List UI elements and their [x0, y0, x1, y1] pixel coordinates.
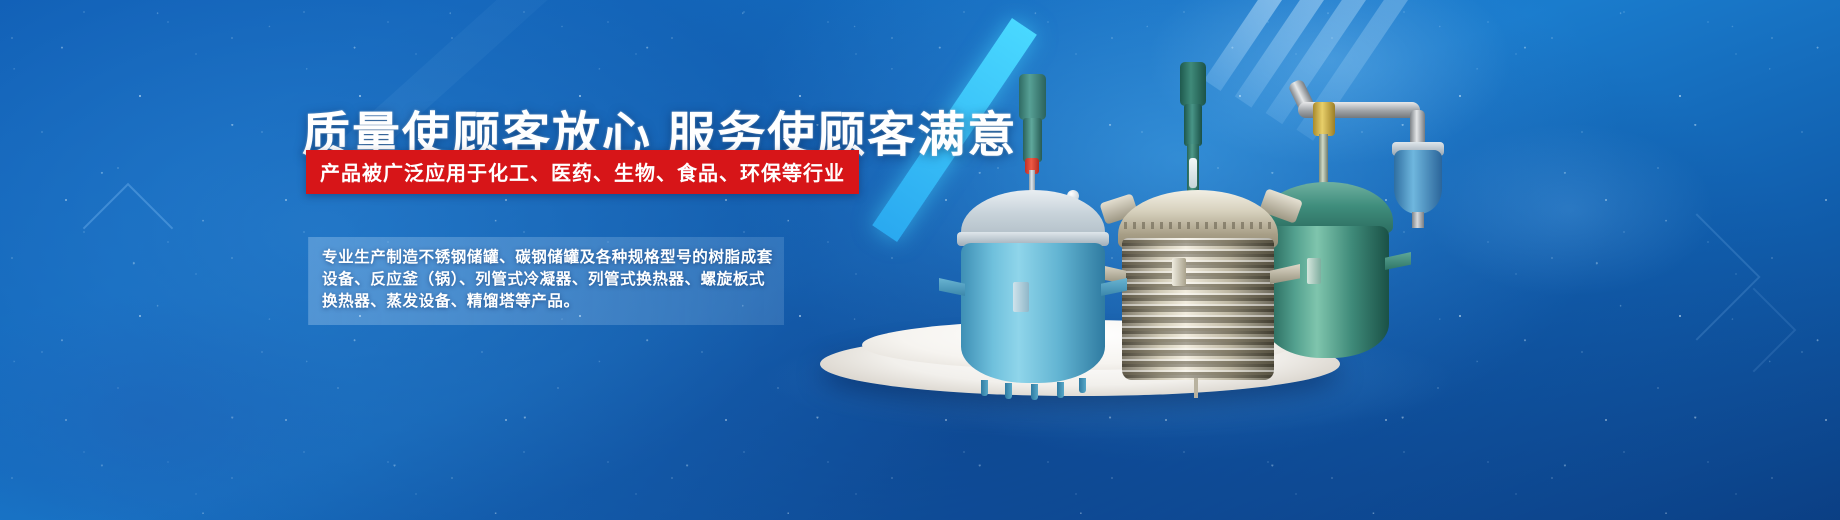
blue-reactor-sight-glass	[1013, 282, 1029, 312]
stainless-reactor-bolt-ring	[1124, 222, 1272, 229]
arrow-outline-shape-2	[1633, 213, 1760, 340]
description-line-1: 专业生产制造不锈钢储罐、碳钢储罐及各种规格型号的树脂成套	[322, 247, 772, 269]
stainless-reactor-drain	[1194, 378, 1198, 398]
blue-reactor-leg-1	[981, 380, 988, 396]
green-reactor-sight-glass	[1307, 258, 1321, 284]
stainless-reactor-motor	[1180, 62, 1206, 106]
blue-jacketed-reactor-icon	[945, 70, 1120, 370]
condenser-outlet-stub	[1412, 212, 1424, 228]
stainless-reactor-gearbox	[1184, 104, 1202, 146]
stainless-coil-reactor-icon	[1110, 62, 1290, 372]
blue-reactor-gearbox	[1023, 118, 1042, 162]
blue-reactor-leg-5	[1079, 378, 1086, 393]
stainless-reactor-seal-glass	[1189, 158, 1197, 188]
blue-reactor-leg-2	[1005, 383, 1012, 399]
copy-block: 质量使顾客放心 服务使顾客满意 产品被广泛应用于化工、医药、生物、食品、环保等行…	[0, 0, 860, 520]
product-image	[800, 40, 1420, 400]
description-line-2: 设备、反应釜（锅）、列管式冷凝器、列管式换热器、螺旋板式	[322, 269, 772, 291]
description-text: 专业生产制造不锈钢储罐、碳钢储罐及各种规格型号的树脂成套 设备、反应釜（锅）、列…	[322, 247, 772, 313]
promo-banner: 质量使顾客放心 服务使顾客满意 产品被广泛应用于化工、医药、生物、食品、环保等行…	[0, 0, 1840, 520]
blue-reactor-leg-4	[1057, 382, 1064, 398]
arrow-outline-shape-3	[1712, 288, 1797, 373]
stainless-reactor-sight-glass	[1172, 258, 1186, 286]
blue-reactor-motor	[1019, 74, 1046, 120]
blue-reactor-leg-3	[1031, 384, 1038, 400]
description-line-3: 换热器、蒸发设备、精馏塔等产品。	[322, 291, 772, 313]
green-reactor-shaft	[1319, 134, 1328, 186]
stainless-reactor-coil-body	[1122, 238, 1274, 380]
green-reactor-motor	[1313, 102, 1335, 136]
tagline-badge: 产品被广泛应用于化工、医药、生物、食品、环保等行业	[306, 150, 859, 194]
blue-reactor-body	[961, 243, 1105, 383]
